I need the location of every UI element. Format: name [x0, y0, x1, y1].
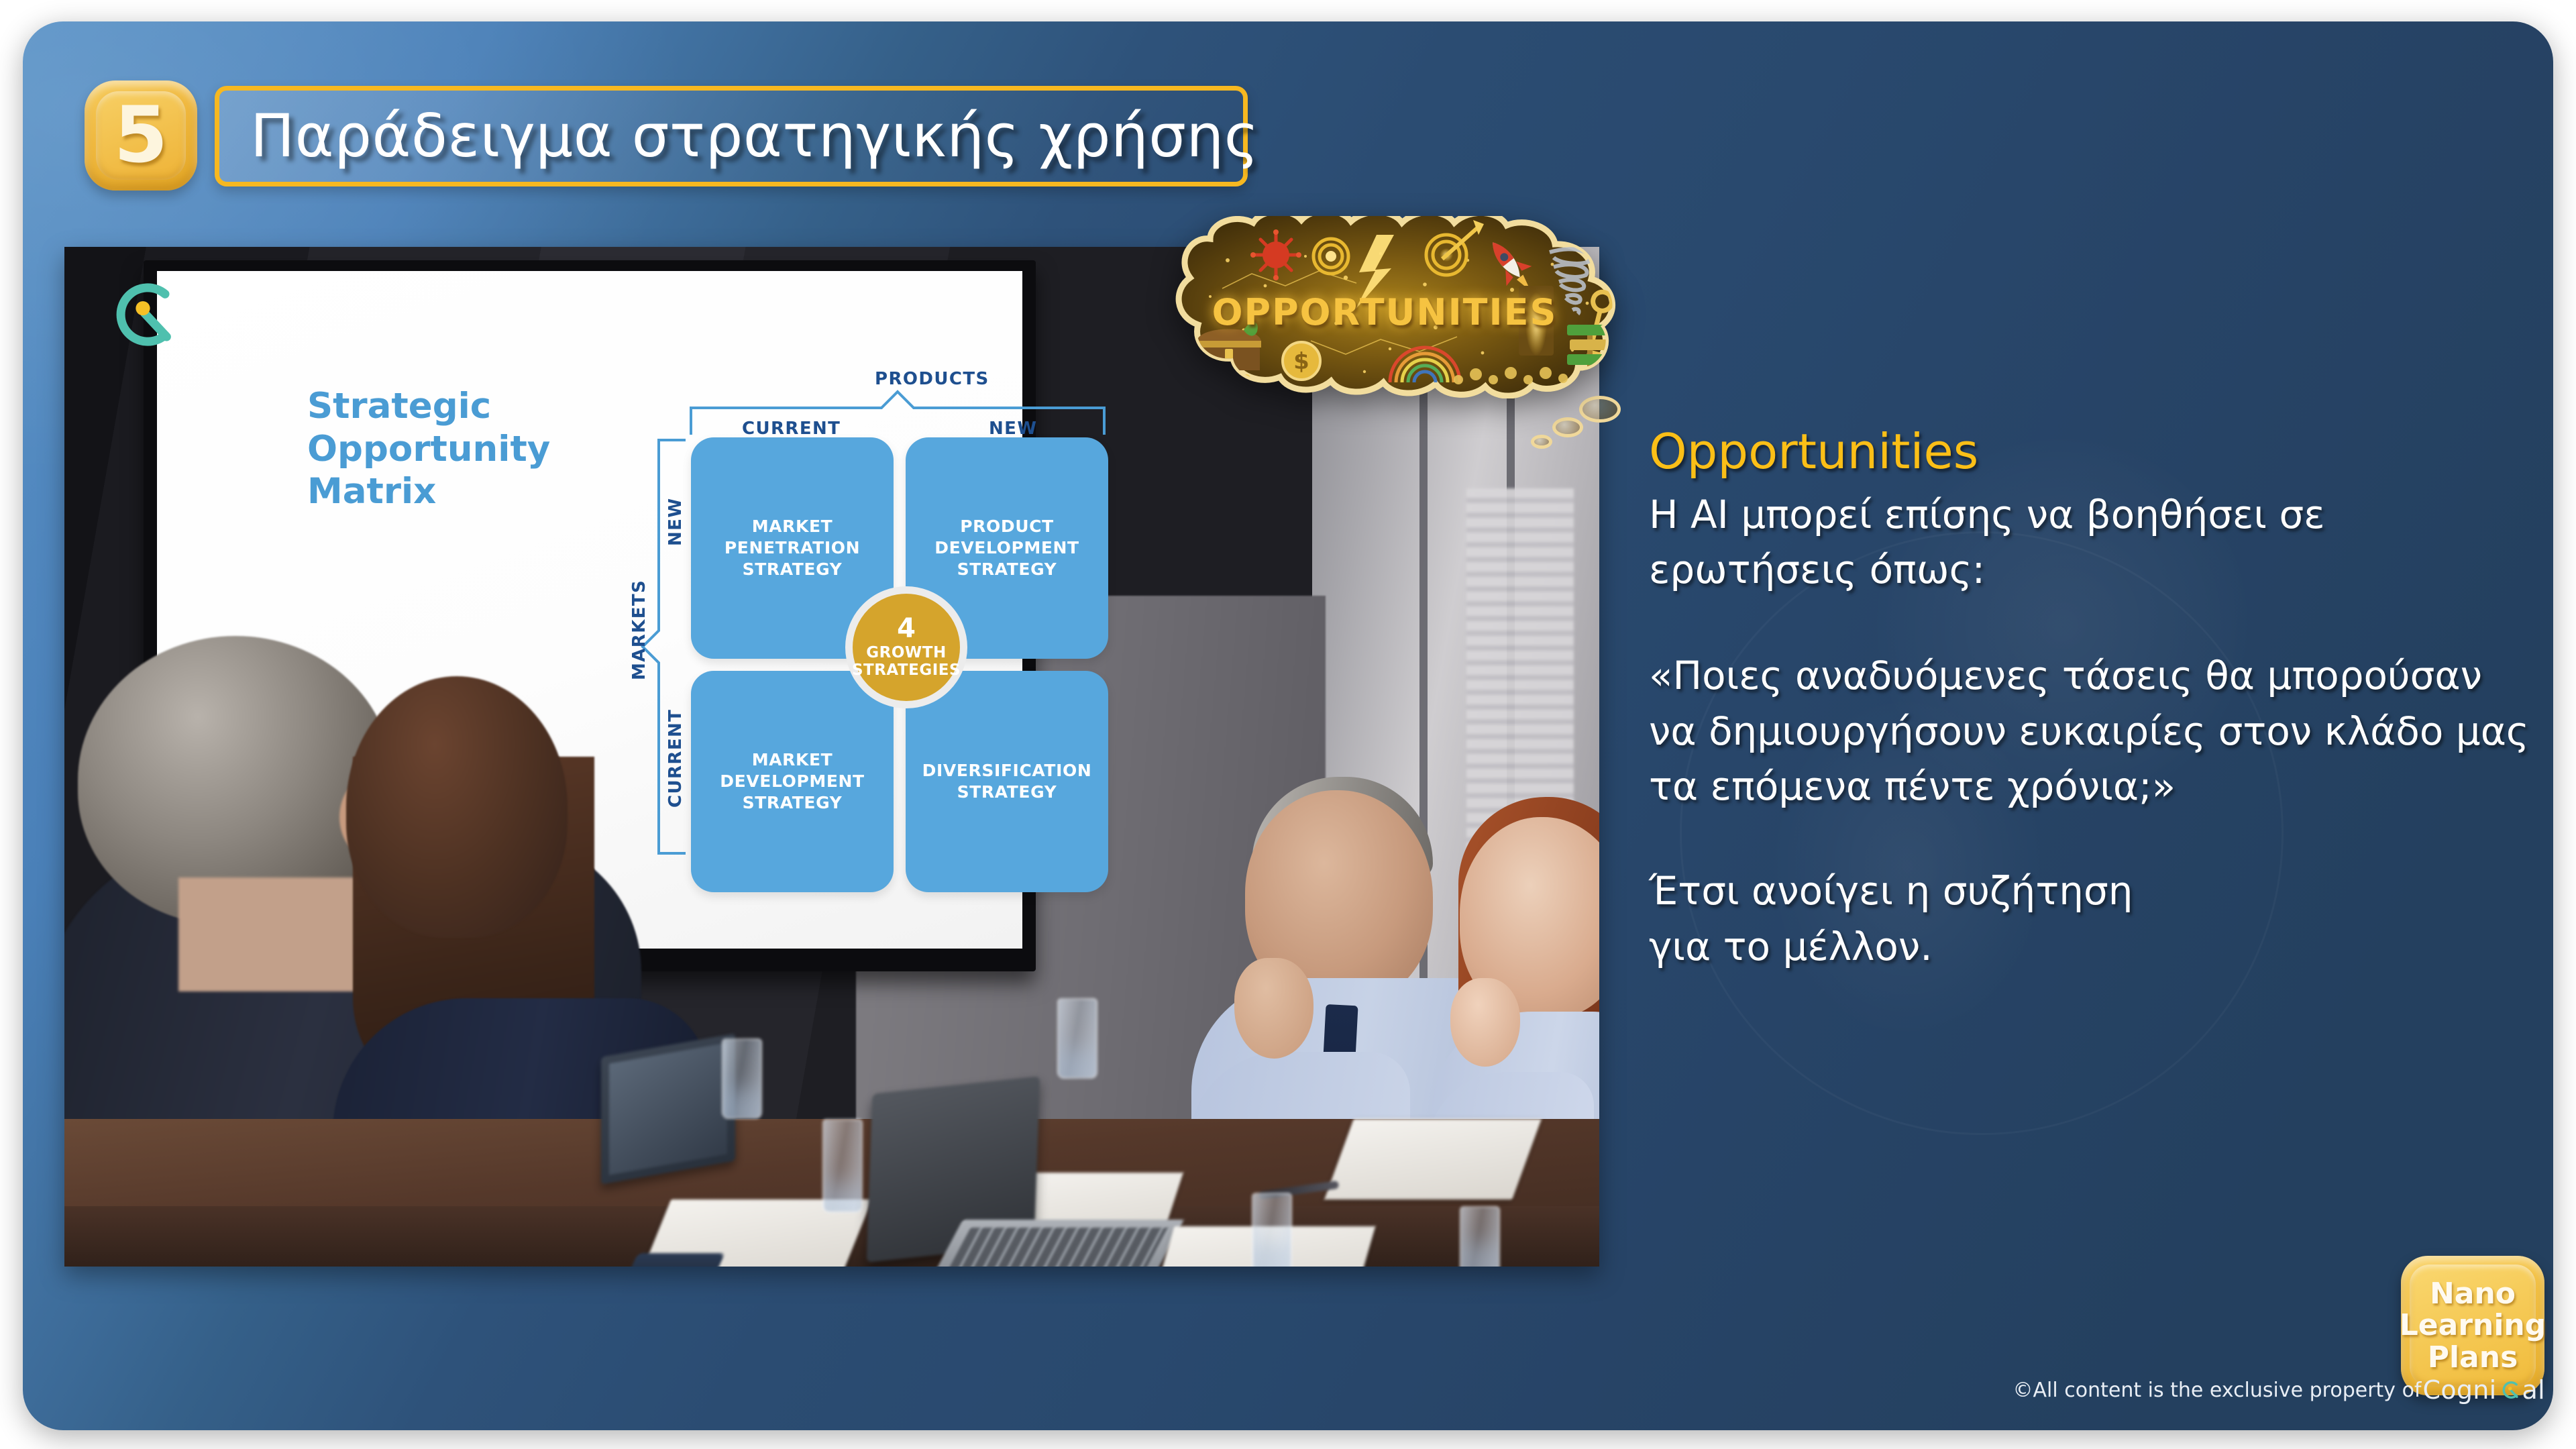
document-paper: [1324, 1119, 1542, 1199]
water-glass: [1460, 1206, 1500, 1267]
quadrant-market-development: MARKET DEVELOPMENT STRATEGY: [691, 671, 894, 892]
slide-number-badge: 5: [85, 80, 197, 191]
badge-line-plans: Plans: [2428, 1342, 2518, 1373]
slide-root: 5 Παράδειγμα στρατηγικής χρήσης Strategi…: [0, 0, 2576, 1449]
copyright-text: ©All content is the exclusive property o…: [2013, 1379, 2422, 1402]
nano-learning-plans-badge: Nano Learning Plans: [2401, 1256, 2544, 1395]
opportunities-quote: «Ποιες αναδυόμενες τάσεις θα μπορούσαν ν…: [1649, 648, 2541, 814]
laptop-keyboard: [924, 1220, 1184, 1267]
slide-canvas: 5 Παράδειγμα στρατηγικής χρήσης Strategi…: [23, 21, 2553, 1430]
opportunities-closing-line2: για το μέλλον.: [1649, 919, 2541, 974]
axis-label-markets: MARKETS: [629, 580, 649, 680]
cogniq-q-icon: [2498, 1378, 2521, 1402]
hub-line-growth: GROWTH: [866, 645, 946, 662]
brand-name-suffix: al: [2522, 1375, 2545, 1405]
copyright-notice: ©All content is the exclusive property o…: [1948, 1375, 2545, 1405]
water-glass: [822, 1119, 863, 1213]
cogniq-logo: [103, 275, 182, 354]
matrix-hub: 4 GROWTH STRATEGIES: [845, 586, 967, 708]
thought-bubble-label: OPPORTUNITIES: [1110, 291, 1660, 333]
column-label-new: NEW: [989, 419, 1037, 439]
slide-title-frame: Παράδειγμα στρατηγικής χρήσης: [215, 86, 1248, 186]
badge-line-learning: Learning: [2400, 1309, 2546, 1341]
dollar-coin-icon: $: [1283, 342, 1320, 380]
matrix-heading: Strategic Opportunity Matrix: [307, 385, 529, 513]
hub-line-strategies: STRATEGIES: [852, 662, 961, 680]
row-label-new: NEW: [665, 498, 686, 546]
thought-bubble: $: [1110, 216, 1660, 417]
thought-bubble-tail-large: [1579, 396, 1621, 423]
laptop-left: [601, 1033, 735, 1184]
thought-bubble-tail-mid: [1552, 417, 1583, 437]
badge-line-nano: Nano: [2430, 1278, 2516, 1309]
man-right-hand: [1234, 958, 1313, 1059]
opportunities-closing-line1: Έτσι ανοίγει η συζήτηση: [1649, 863, 2541, 918]
woman-right-hand: [1450, 978, 1520, 1067]
strategic-opportunity-matrix: PRODUCTS CURRENT NEW MARKETS NEW CURRENT…: [627, 365, 1123, 928]
page-title: Παράδειγμα στρατηγικής χρήσης: [219, 107, 1259, 166]
quadrant-diversification: DIVERSIFICATION STRATEGY: [906, 671, 1108, 892]
right-content-panel: Opportunities Η AI μπορεί επίσης να βοηθ…: [1649, 427, 2541, 974]
row-label-current: CURRENT: [665, 709, 686, 808]
opportunities-heading: Opportunities: [1649, 427, 2541, 478]
water-glass: [1057, 998, 1097, 1079]
paragraph-spacer: [1649, 814, 2541, 863]
brand-name-prefix: Cogni: [2423, 1375, 2497, 1405]
water-glass: [1252, 1193, 1292, 1267]
target-icon: [1313, 239, 1348, 274]
thought-bubble-tail-small: [1531, 435, 1552, 449]
column-label-current: CURRENT: [742, 419, 841, 439]
opportunities-intro: Η AI μπορεί επίσης να βοηθήσει σε ερωτήσ…: [1649, 487, 2541, 598]
slide-number-value: 5: [114, 97, 168, 174]
svg-text:$: $: [1293, 348, 1309, 375]
person-back-right-head: [346, 676, 568, 938]
water-glass: [722, 1038, 762, 1119]
hub-number: 4: [897, 615, 916, 642]
paragraph-spacer: [1649, 597, 2541, 648]
